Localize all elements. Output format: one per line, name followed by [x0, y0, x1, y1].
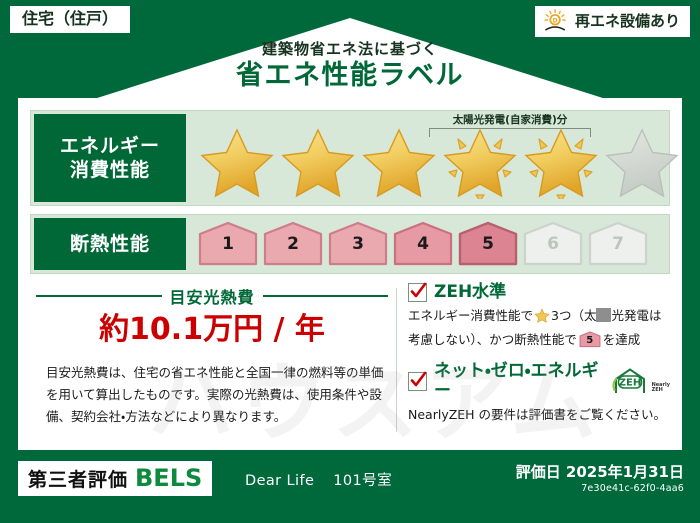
title-block: 建築物省エネ法に基づく 省エネ性能ラベル	[0, 40, 700, 92]
room-number: 101号室	[333, 473, 392, 489]
star-icon	[602, 125, 682, 199]
insulation-house-2: 2	[262, 221, 324, 267]
zeh-desc-part4: を達成	[603, 332, 641, 347]
check-icon	[408, 281, 428, 301]
insulation-house-7-number: 7	[587, 236, 649, 253]
energy-label-line1: エネルギー	[60, 134, 160, 158]
net-zero-title-row: ネット・ゼロ・エネルギー ZEH Nearly ZEH	[408, 361, 670, 402]
insulation-house-4: 4	[392, 221, 454, 267]
energy-label-line2: 消費性能	[70, 158, 150, 182]
label-card: ハウスアム エネルギー 消費性能 太陽光発電(自家消費)分	[18, 98, 682, 450]
energy-star-rating	[197, 125, 682, 199]
renewable-equipment-tag: D 再エネ設備あり	[533, 4, 692, 39]
insulation-house-7: 7	[587, 221, 649, 267]
insulation-performance-row: 断熱性能 1 2	[30, 214, 670, 274]
zeh-standard-checkbox[interactable]	[408, 283, 427, 302]
zeh-standard-description: エネルギー消費性能で3つ（太光発電は考慮しない）、かつ断熱性能で5を達成	[408, 306, 670, 350]
heading-rule-right	[263, 295, 389, 297]
zeh-house-icon: ZEH	[610, 367, 650, 395]
utility-cost-heading: 目安光熱費	[36, 284, 388, 308]
insulation-grade-scale: 1 2 3	[197, 221, 649, 267]
energy-performance-label: エネルギー 消費性能	[34, 114, 186, 202]
star-4	[440, 125, 520, 199]
insulation-house-1-number: 1	[197, 236, 259, 253]
insulation-performance-label: 断熱性能	[34, 218, 186, 270]
insulation-house-1: 1	[197, 221, 259, 267]
star-3	[359, 125, 439, 199]
star-icon	[521, 125, 601, 199]
renewable-equipment-label: 再エネ設備あり	[575, 13, 680, 30]
insulation-house-5-number: 5	[457, 236, 519, 253]
insulation-house-6-number: 6	[522, 236, 584, 253]
insulation-house-4-number: 4	[392, 236, 454, 253]
evaluation-id: 7e30e41c-62f0-4aa6	[581, 483, 684, 494]
zeh-logo: ZEH Nearly ZEH	[610, 367, 670, 395]
star-icon	[440, 125, 520, 199]
zeh-desc-part1: エネルギー消費性能で	[408, 308, 533, 323]
insulation-house-5: 5	[457, 221, 519, 267]
heading-rule-left	[36, 295, 162, 297]
net-zero-title: ネット・ゼロ・エネルギー	[434, 361, 599, 402]
energy-performance-content: 太陽光発電(自家消費)分	[189, 111, 682, 205]
star-6	[602, 125, 682, 199]
insulation-house-2-number: 2	[262, 236, 324, 253]
bels-energy-label: 建築物省エネ法に基づく 省エネ性能ラベル 住宅（住戸） D 再エネ設備あり ハウ…	[0, 0, 700, 523]
footer-bar: 第三者評価 BELS Dear Life 101号室 評価日 2025年1月31…	[0, 450, 700, 523]
svg-text:ZEH: ZEH	[618, 378, 640, 389]
zeh-standard-title: ZEH水準	[434, 282, 506, 302]
utility-cost-block: 目安光熱費 約10.1万円 / 年 目安光熱費は、住宅の省エネ性能と全国一律の燃…	[36, 284, 388, 428]
house-level-icon: 5	[579, 331, 601, 348]
bels-en-text: BELS	[135, 464, 202, 492]
star-1	[197, 125, 277, 199]
property-name: Dear Life	[245, 473, 314, 489]
bels-badge: 第三者評価 BELS	[18, 461, 212, 496]
insulation-house-3-number: 3	[327, 236, 389, 253]
net-zero-energy-item: ネット・ゼロ・エネルギー ZEH Nearly ZEH	[408, 361, 670, 426]
property-info: Dear Life 101号室	[245, 469, 392, 490]
insulation-house-3: 3	[327, 221, 389, 267]
zeh-block: ZEH水準 エネルギー消費性能で3つ（太光発電は考慮しない）、かつ断熱性能で5を…	[408, 282, 670, 430]
redaction-mark	[596, 308, 611, 322]
utility-cost-value: 約10.1万円 / 年	[36, 313, 388, 346]
zeh-desc-house-number: 5	[579, 336, 601, 346]
bels-jp-text: 第三者評価	[28, 465, 128, 492]
svg-text:D: D	[553, 17, 558, 24]
utility-cost-heading-text: 目安光熱費	[170, 284, 255, 308]
utility-cost-note: 目安光熱費は、住宅の省エネ性能と全国一律の燃料等の単価を用いて算出したものです。…	[36, 362, 388, 428]
star-icon	[359, 125, 439, 199]
zeh-standard-item: ZEH水準 エネルギー消費性能で3つ（太光発電は考慮しない）、かつ断熱性能で5を…	[408, 282, 670, 351]
star-icon	[278, 125, 358, 199]
insulation-performance-content: 1 2 3	[189, 215, 669, 273]
dwelling-type-tag: 住宅（住戸）	[8, 4, 132, 35]
zeh-logo-sub-line2: ZEH	[652, 387, 663, 393]
page-title: 省エネ性能ラベル	[0, 60, 700, 92]
zeh-desc-part2: 3つ（太	[551, 308, 596, 323]
net-zero-checkbox[interactable]	[408, 372, 427, 391]
insulation-house-6: 6	[522, 221, 584, 267]
insulation-label-text: 断熱性能	[70, 232, 150, 256]
star-icon	[534, 308, 550, 330]
energy-performance-row: エネルギー 消費性能 太陽光発電(自家消費)分	[30, 110, 670, 206]
solar-sun-icon: D	[543, 9, 569, 33]
zeh-standard-title-row: ZEH水準	[408, 282, 670, 302]
net-zero-description: NearlyZEH の要件は評価書をご覧ください。	[408, 405, 670, 426]
zeh-logo-subtext: Nearly ZEH	[652, 383, 670, 396]
check-icon	[408, 370, 428, 390]
vertical-divider	[396, 288, 397, 432]
star-5	[521, 125, 601, 199]
evaluation-date: 評価日 2025年1月31日	[516, 463, 684, 482]
star-icon	[197, 125, 277, 199]
title-subtitle: 建築物省エネ法に基づく	[0, 40, 700, 58]
star-2	[278, 125, 358, 199]
